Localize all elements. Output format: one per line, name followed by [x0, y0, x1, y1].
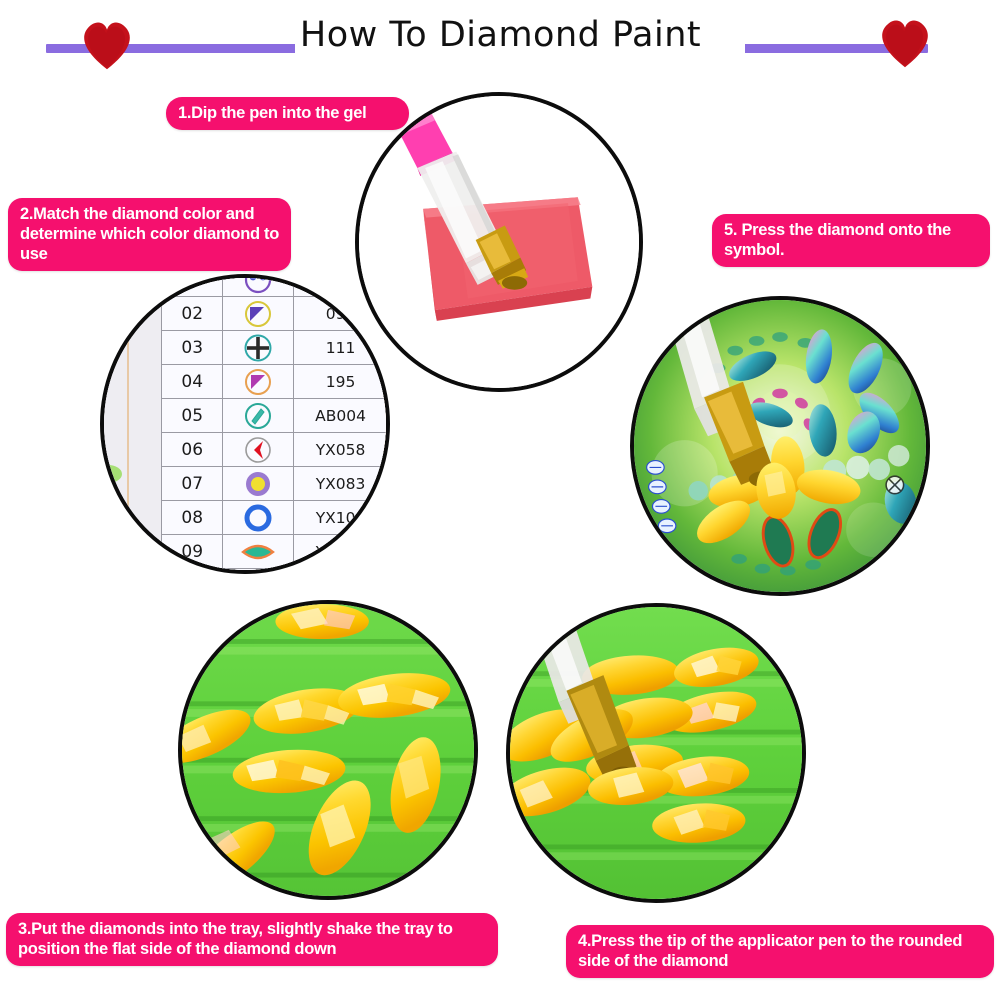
row-code: 111 — [294, 331, 388, 365]
infographic-canvas: How To Diamond Paint 1.Dip the pen into … — [0, 0, 1001, 1001]
step-1-label: 1.Dip the pen into the gel — [166, 97, 409, 130]
stray-diamond-icon — [100, 526, 138, 562]
step-2-label: 2.Match the diamond color and determine … — [8, 198, 291, 271]
row-code: YX083 — [294, 467, 388, 501]
row-symbol — [223, 297, 294, 331]
row-code: 195 — [294, 365, 388, 399]
row-number: 08 — [162, 501, 223, 535]
table-row: 08 YX106 — [162, 501, 388, 535]
diamond-onto-symbol-photo — [630, 296, 930, 596]
color-symbol-chart-photo: 01 028 02 — [100, 274, 390, 574]
row-code: YX125 — [294, 535, 388, 569]
table-row: 04 195 — [162, 365, 388, 399]
row-number: 06 — [162, 433, 223, 467]
row-number: 03 — [162, 331, 223, 365]
diamonds-in-green-tray-photo — [178, 600, 478, 900]
row-code: YX058 — [294, 433, 388, 467]
page-title: How To Diamond Paint — [0, 15, 1001, 55]
table-row: 01 028 — [162, 274, 388, 297]
color-symbol-table: 01 028 02 — [161, 274, 388, 574]
table-row: 02 093 — [162, 297, 388, 331]
row-code: 028 — [294, 274, 388, 297]
row-symbol — [223, 569, 294, 575]
stray-diamond-icon — [100, 456, 138, 492]
chart-paper: 01 028 02 — [104, 278, 386, 570]
row-symbol — [223, 274, 294, 297]
row-code — [294, 569, 388, 575]
table-row: 07 YX083 — [162, 467, 388, 501]
row-symbol — [223, 399, 294, 433]
row-symbol — [223, 331, 294, 365]
row-number — [162, 569, 223, 575]
step-3-label: 3.Put the diamonds into the tray, slight… — [6, 913, 498, 966]
table-row: 03 111 — [162, 331, 388, 365]
row-code: 093 — [294, 297, 388, 331]
row-number: 05 — [162, 399, 223, 433]
table-row: 09 YX125 — [162, 535, 388, 569]
row-symbol — [223, 535, 294, 569]
row-code: YX106 — [294, 501, 388, 535]
table-row: 06 YX058 — [162, 433, 388, 467]
row-symbol — [223, 467, 294, 501]
table-row — [162, 569, 388, 575]
row-symbol — [223, 501, 294, 535]
row-number: 04 — [162, 365, 223, 399]
row-code: AB004 — [294, 399, 388, 433]
row-symbol — [223, 365, 294, 399]
row-number: 02 — [162, 297, 223, 331]
step-4-label: 4.Press the tip of the applicator pen to… — [566, 925, 994, 978]
step-5-label: 5. Press the diamond onto the symbol. — [712, 214, 990, 267]
row-symbol — [223, 433, 294, 467]
row-number: 07 — [162, 467, 223, 501]
table-body: 01 028 02 — [162, 274, 388, 574]
row-number: 09 — [162, 535, 223, 569]
pen-dipping-into-gel-photo — [355, 92, 643, 392]
pen-pressing-diamond-photo — [506, 603, 806, 903]
table-row: 05 AB004 — [162, 399, 388, 433]
row-number: 01 — [162, 274, 223, 297]
